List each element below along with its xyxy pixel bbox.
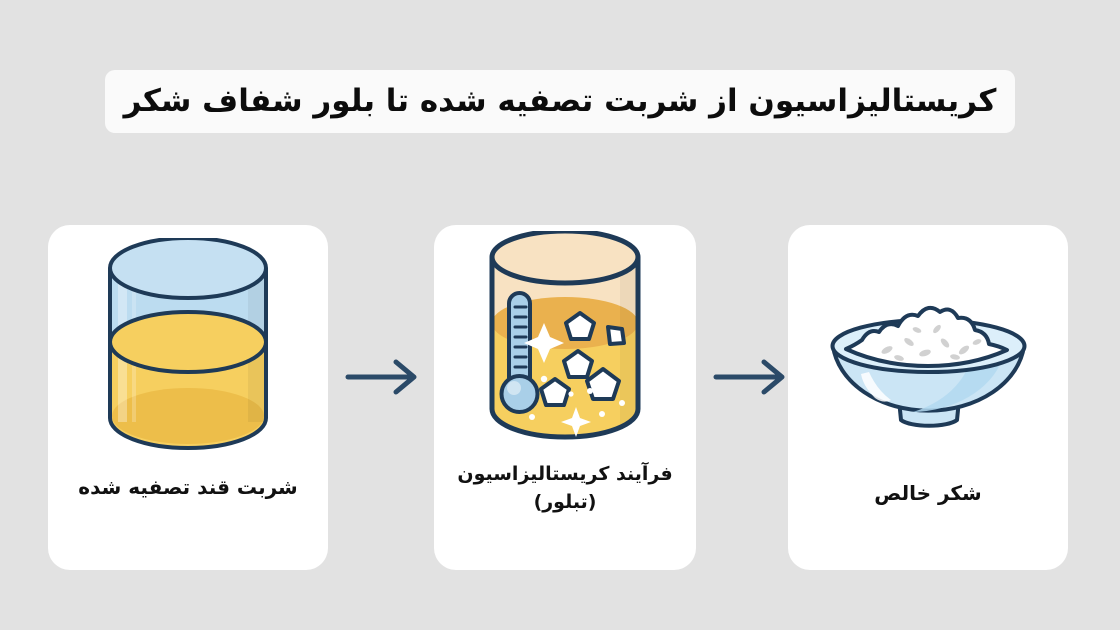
flow-step-label-pure-sugar: شکر خالص — [788, 479, 1068, 508]
card-artwork-crystallization — [434, 225, 696, 459]
flow-step-label-crystallization-line1: فرآیند کریستالیزاسیون — [444, 461, 686, 489]
flow-connector-1 — [344, 355, 428, 399]
page-title-panel: کریستالیزاسیون از شربت تصفیه شده تا بلور… — [105, 70, 1015, 133]
flow-step-label-crystallization-line2: (تبلور) — [444, 489, 686, 517]
crystallization-vessel-icon — [470, 231, 660, 456]
card-artwork-refined-syrup — [48, 225, 328, 469]
flow-step-card-refined-syrup[interactable]: شربت قند تصفیه شده — [48, 225, 328, 570]
small-crystal-icon — [608, 327, 624, 344]
page-title: کریستالیزاسیون از شربت تصفیه شده تا بلور… — [124, 82, 997, 121]
bowl-of-sugar-icon — [821, 250, 1036, 460]
card-artwork-pure-sugar — [788, 225, 1068, 475]
flow-connector-2 — [712, 355, 796, 399]
cylinder-of-syrup-icon — [88, 238, 288, 463]
arrow-right-icon — [712, 355, 796, 399]
flow-step-label-crystallization: فرآیند کریستالیزاسیون (تبلور) — [434, 461, 696, 516]
arrow-right-icon — [344, 355, 428, 399]
flow-step-card-pure-sugar[interactable]: شکر خالص — [788, 225, 1068, 570]
flow-step-label-refined-syrup: شربت قند تصفیه شده — [48, 473, 328, 502]
process-flow-row: شربت قند تصفیه شده — [0, 225, 1120, 575]
flow-step-card-crystallization[interactable]: فرآیند کریستالیزاسیون (تبلور) — [434, 225, 696, 570]
